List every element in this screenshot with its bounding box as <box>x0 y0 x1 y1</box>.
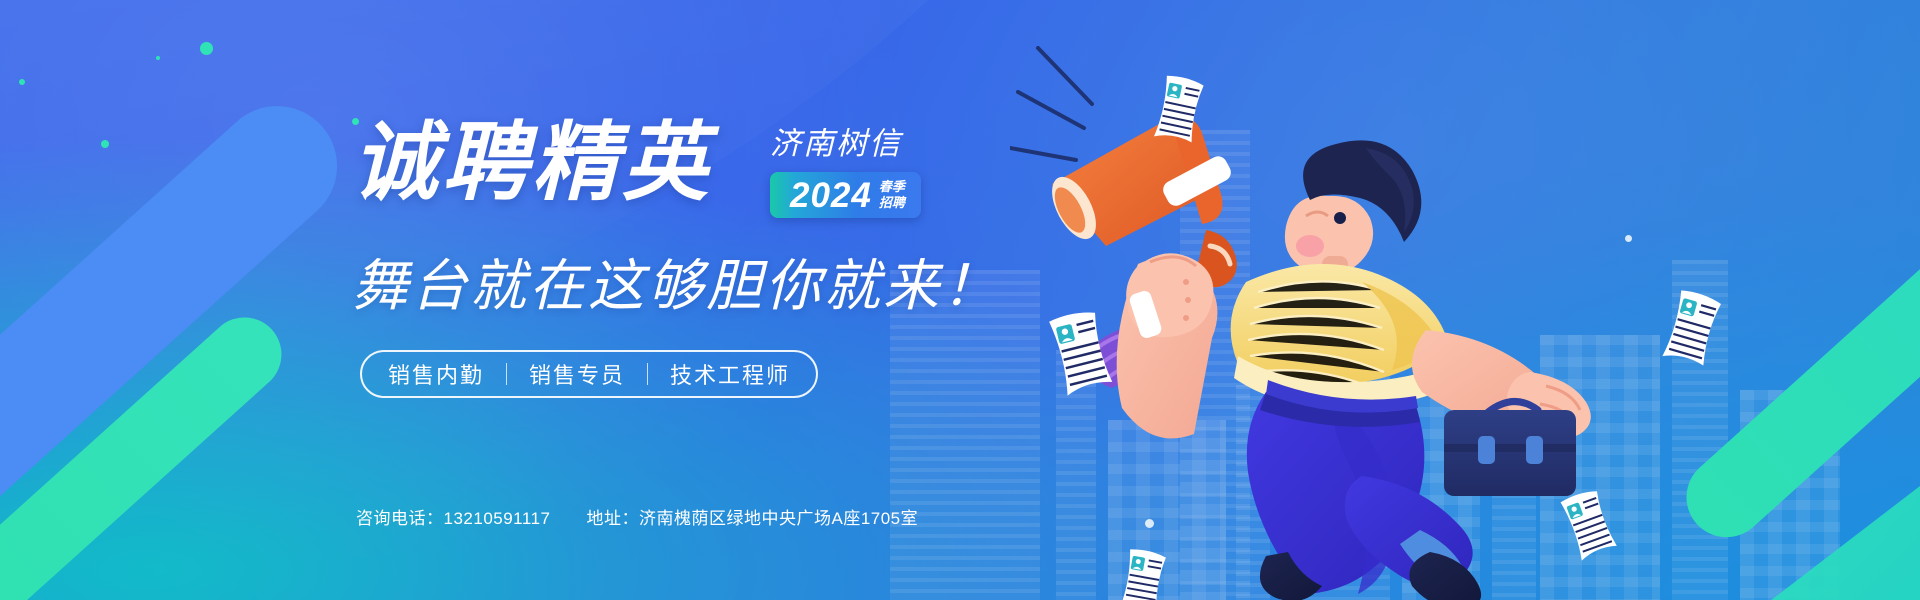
brand-block: 济南树信 2024 春季 招聘 <box>770 128 980 218</box>
brand-name: 济南树信 <box>770 128 980 159</box>
contact-info: 咨询电话：13210591117 地址：济南槐荫区绿地中央广场A座1705室 <box>356 504 918 529</box>
recruitment-banner: 诚聘精英 济南树信 2024 春季 招聘 舞台就在这够胆你就来！ 销售内勤 销售… <box>0 0 1920 600</box>
headline-row: 诚聘精英 <box>352 120 712 206</box>
position-item-1[interactable]: 销售内勤 <box>388 358 484 390</box>
character-illustration <box>1010 0 1610 600</box>
eye <box>1334 212 1346 224</box>
resume-paper-icon <box>1110 544 1177 600</box>
season-badge: 2024 春季 招聘 <box>770 172 921 218</box>
badge-line-1: 春季 <box>879 179 905 195</box>
decorative-dot <box>1625 235 1632 242</box>
contact-phone: 咨询电话：13210591117 <box>356 504 550 529</box>
subtitle: 舞台就在这够胆你就来！ <box>352 258 1001 314</box>
position-separator <box>647 363 648 385</box>
badge-stack: 春季 招聘 <box>879 179 905 211</box>
position-separator <box>506 363 507 385</box>
megaphone-icon <box>1043 117 1237 288</box>
position-item-2[interactable]: 销售专员 <box>529 358 625 390</box>
text-content: 诚聘精英 济南树信 2024 春季 招聘 舞台就在这够胆你就来！ 销售内勤 销售… <box>0 0 1020 600</box>
contact-address: 地址：济南槐荫区绿地中央广场A座1705室 <box>586 504 918 529</box>
badge-line-2: 招聘 <box>879 195 905 211</box>
badge-year: 2024 <box>790 178 872 213</box>
illustration <box>1010 0 1610 600</box>
position-item-3[interactable]: 技术工程师 <box>670 358 790 390</box>
sound-lines-icon <box>1010 48 1092 160</box>
head <box>1285 140 1421 275</box>
positions-pill: 销售内勤 销售专员 技术工程师 <box>360 350 818 398</box>
cheek-blush <box>1296 235 1324 257</box>
headline: 诚聘精英 <box>352 120 712 206</box>
briefcase-icon <box>1444 401 1576 496</box>
